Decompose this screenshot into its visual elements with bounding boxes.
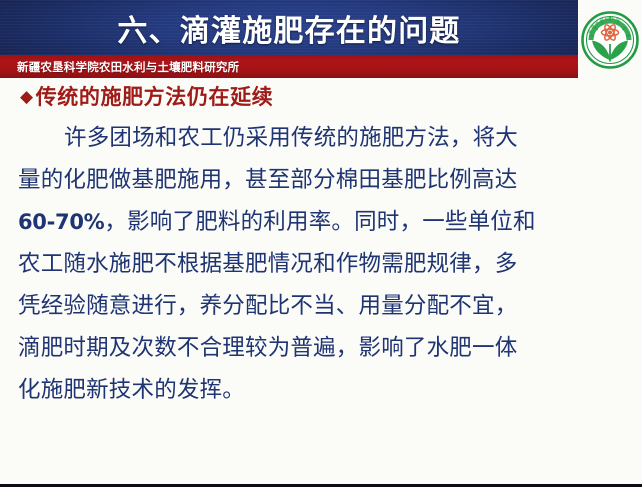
body-line-text: 农工随水施肥不根据基肥情况和作物需肥规律，多: [18, 251, 517, 277]
body-line: 凭经验随意进行，养分配比不当、用量分配不宜，: [18, 285, 628, 327]
body-line: 60-70%，影响了肥料的利用率。同时，一些单位和: [18, 201, 628, 243]
institute-name: 新疆农垦科学院农田水利与土壤肥料研究所: [0, 59, 239, 75]
bullet-heading: ◆ 传统的施肥方法仍在延续: [0, 82, 642, 112]
body-line-text: 凭经验随意进行，养分配比不当、用量分配不宜，: [18, 293, 517, 319]
body-line: 量的化肥做基肥施用，甚至部分棉田基肥比例高达: [18, 159, 628, 201]
body-line-text: 化施肥新技术的发挥。: [18, 377, 245, 403]
body-paragraph: 许多团场和农工仍采用传统的施肥方法，将大 量的化肥做基肥施用，甚至部分棉田基肥比…: [0, 117, 642, 411]
body-line: 许多团场和农工仍采用传统的施肥方法，将大: [18, 117, 628, 159]
body-line: 化施肥新技术的发挥。: [18, 369, 628, 411]
body-line-text: 量的化肥做基肥施用，甚至部分棉田基肥比例高达: [18, 167, 517, 193]
institute-emblem-icon: 新疆农垦科学院 XINJIANG ACADEMY OF AGRICULTURAL…: [581, 4, 639, 76]
body-line-text: 许多团场和农工仍采用传统的施肥方法，将大: [64, 125, 518, 151]
presentation-slide: 六、滴灌施肥存在的问题 新疆农垦科学院农田水利与土壤肥料研究所: [0, 0, 642, 487]
body-line-text: 滴肥时期及次数不合理较为普遍，影响了水肥一体: [18, 335, 517, 361]
body-line: 农工随水施肥不根据基肥情况和作物需肥规律，多: [18, 243, 628, 285]
slide-title: 六、滴灌施肥存在的问题: [0, 0, 578, 55]
institute-band: 新疆农垦科学院农田水利与土壤肥料研究所: [0, 55, 578, 78]
body-line: 滴肥时期及次数不合理较为普遍，影响了水肥一体: [18, 327, 628, 369]
bullet-heading-text: 传统的施肥方法仍在延续: [36, 82, 274, 112]
institute-logo: 新疆农垦科学院 XINJIANG ACADEMY OF AGRICULTURAL…: [578, 0, 642, 80]
diamond-bullet-icon: ◆: [20, 89, 34, 106]
body-line-text: ，影响了肥料的利用率。同时，一些单位和: [104, 209, 535, 235]
emphasis-percentage: 60-70%: [18, 210, 104, 234]
slide-content: ◆ 传统的施肥方法仍在延续 许多团场和农工仍采用传统的施肥方法，将大 量的化肥做…: [0, 82, 642, 411]
